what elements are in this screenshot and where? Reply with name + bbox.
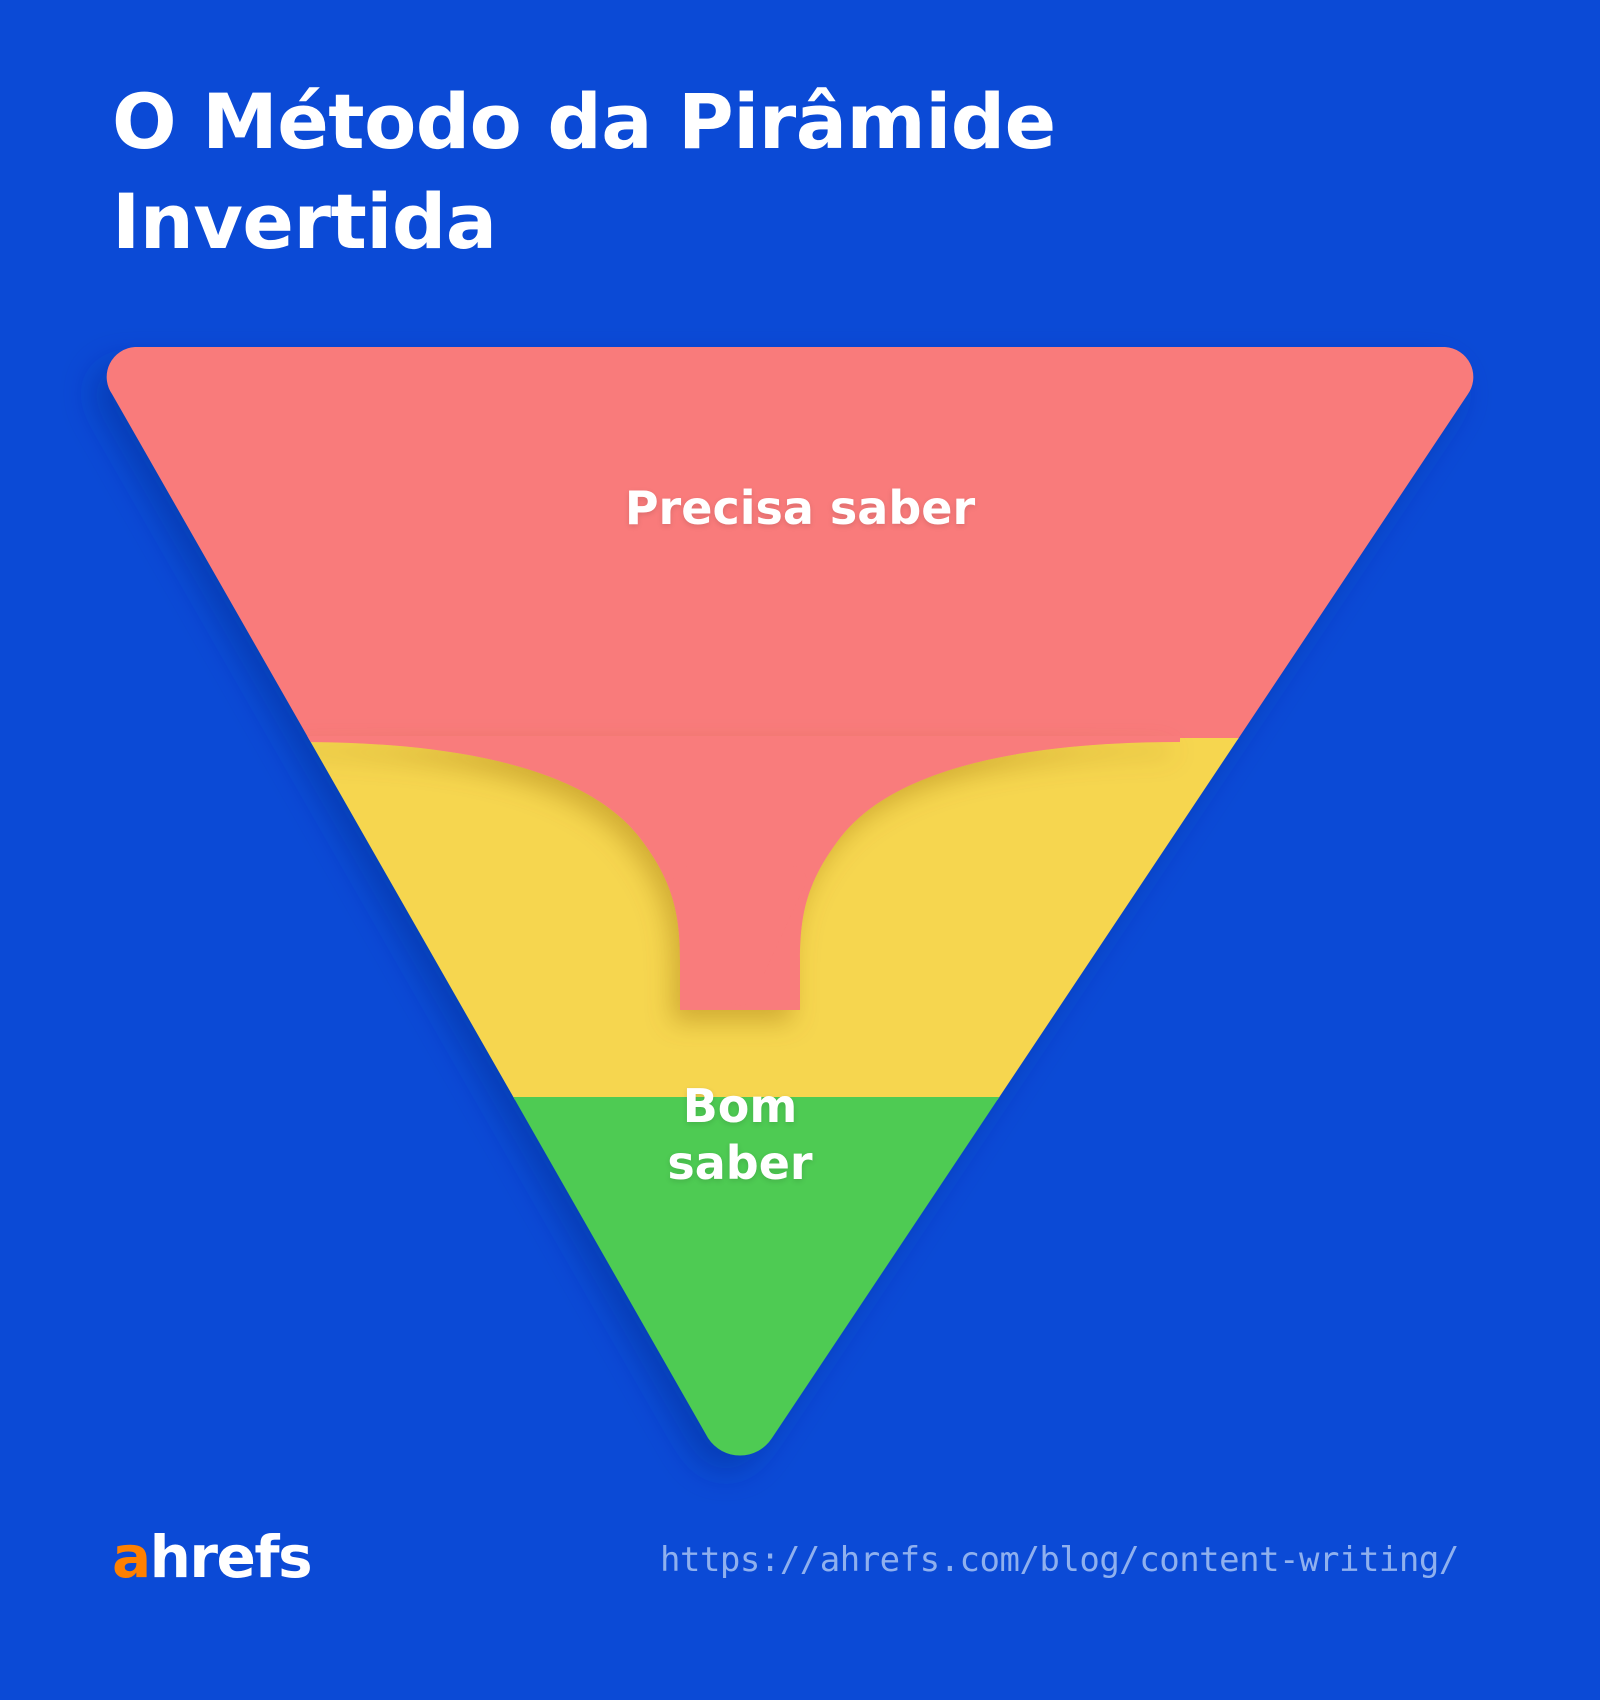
- logo-accent-letter: a: [112, 1528, 150, 1586]
- poster-canvas: O Método da Pirâmide Invertida: [0, 0, 1600, 1700]
- inverted-pyramid-graphic: [0, 0, 1600, 1700]
- logo-wordmark: hrefs: [150, 1528, 312, 1586]
- ahrefs-logo[interactable]: ahrefs: [112, 1528, 311, 1586]
- segment-label-precisa-saber: Precisa saber: [0, 480, 1600, 537]
- segment-label-bom-saber: Bom saber: [540, 1078, 940, 1192]
- funnel-svg: [0, 0, 1600, 1700]
- source-url[interactable]: https://ahrefs.com/blog/content-writing/: [660, 1540, 1420, 1580]
